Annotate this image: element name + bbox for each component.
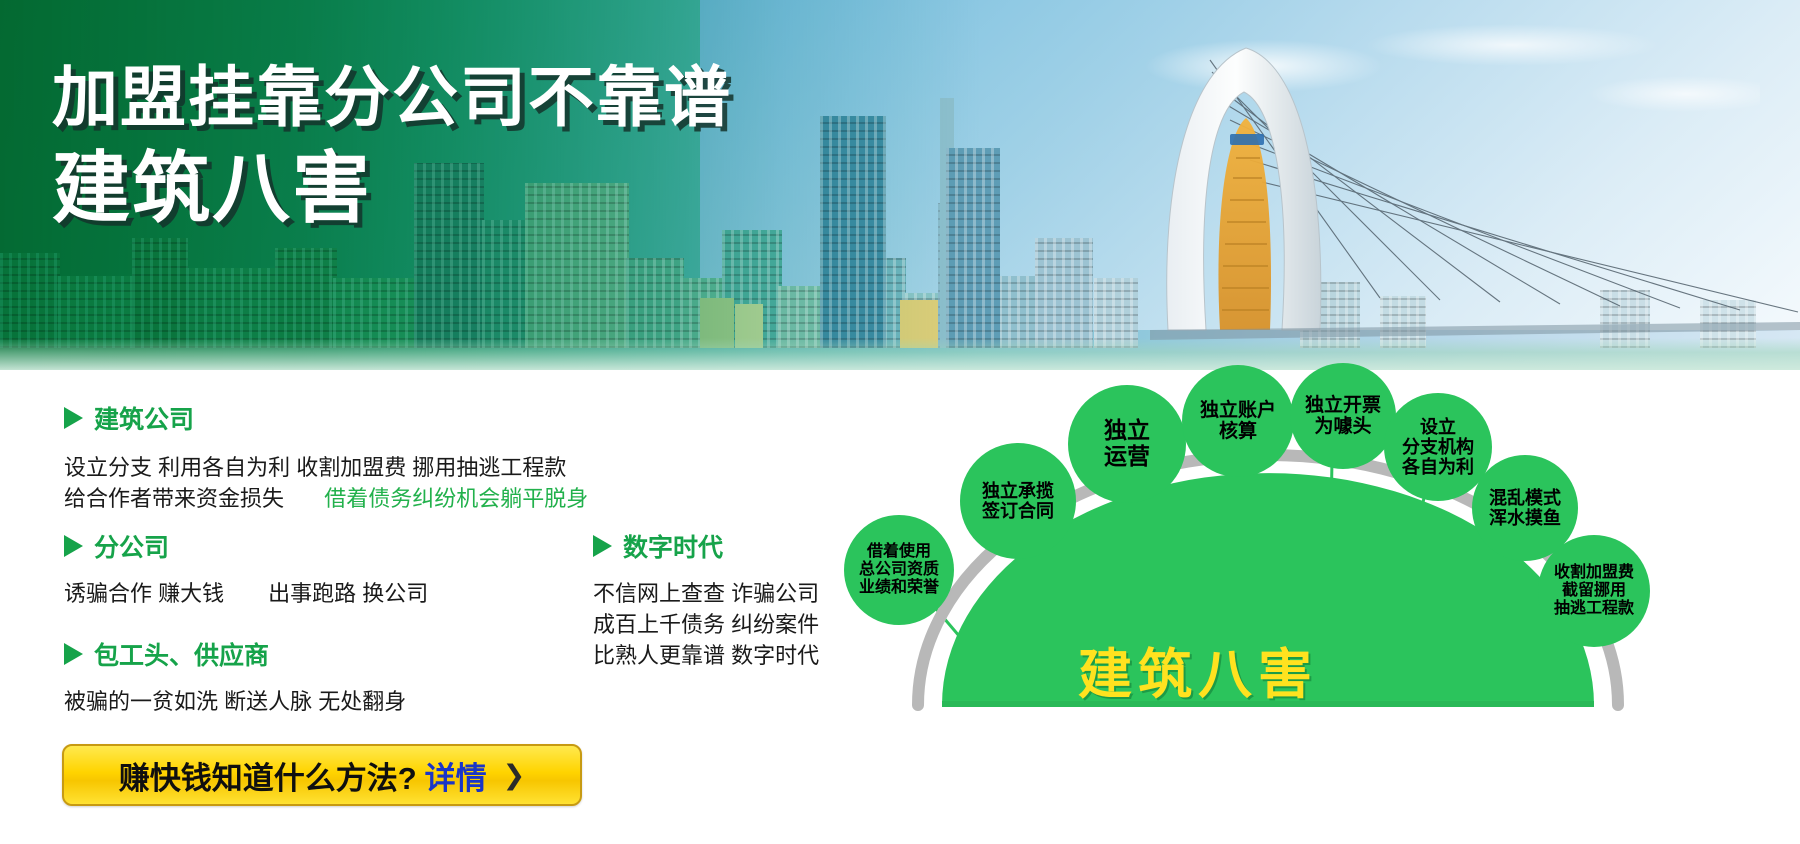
body-line: 成百上千债务 纠纷案件 xyxy=(593,609,819,640)
body-line: 被骗的一贫如洗 断送人脉 无处翻身 xyxy=(64,686,406,717)
eight-harms-diagram: 借着使用 总公司资质 业绩和荣誉 独立承揽 签订合同 独立 运营 独立账户 核算… xyxy=(900,375,1800,844)
body-line: 设立分支 利用各自为利 收割加盟费 挪用抽逃工程款 xyxy=(64,452,588,483)
section-construction-company: 建筑公司 设立分支 利用各自为利 收割加盟费 挪用抽逃工程款 给合作者带来资金损… xyxy=(64,400,588,514)
body-line: 比熟人更靠谱 数字时代 xyxy=(593,640,819,671)
bubble-3: 独立 运营 xyxy=(1068,385,1186,503)
triangle-bullet-icon xyxy=(64,407,83,429)
bubble-4: 独立账户 核算 xyxy=(1182,365,1294,477)
triangle-bullet-icon xyxy=(64,643,83,665)
body-text-black: 给合作者带来资金损失 xyxy=(64,486,284,511)
section-body-branch-company: 诱骗合作 赚大钱 出事跑路 换公司 xyxy=(64,578,428,609)
left-content-column: 建筑公司 设立分支 利用各自为利 收割加盟费 挪用抽逃工程款 给合作者带来资金损… xyxy=(0,388,900,844)
triangle-bullet-icon xyxy=(64,535,83,557)
section-heading-digital-era: 数字时代 xyxy=(593,528,819,564)
bubble-1: 借着使用 总公司资质 业绩和荣誉 xyxy=(844,515,954,625)
section-heading-construction-company: 建筑公司 xyxy=(64,400,588,436)
section-branch-company: 分公司 诱骗合作 赚大钱 出事跑路 换公司 xyxy=(64,528,428,609)
body-text-green: 借着债务纠纷机会躺平脱身 xyxy=(324,486,588,511)
hero-headline: 加盟挂靠分公司不靠谱 建筑八害 xyxy=(52,58,732,234)
cta-detail-link[interactable]: 详情 xyxy=(425,753,487,798)
headline-line-1: 加盟挂靠分公司不靠谱 xyxy=(52,58,732,136)
section-heading-label: 数字时代 xyxy=(623,528,723,564)
page-root: 加盟挂靠分公司不靠谱 建筑八害 建筑公司 设立分支 利用各自为利 收割加盟费 挪… xyxy=(0,0,1800,844)
hero-bottom-fade xyxy=(0,338,1800,370)
chevron-right-icon: ❯ xyxy=(503,760,526,791)
building xyxy=(1035,238,1093,348)
bubble-2: 独立承揽 签订合同 xyxy=(960,443,1076,559)
headline-line-2: 建筑八害 xyxy=(52,142,732,234)
body-line-mixed: 给合作者带来资金损失 借着债务纠纷机会躺平脱身 xyxy=(64,483,588,514)
section-body-construction-company: 设立分支 利用各自为利 收割加盟费 挪用抽逃工程款 给合作者带来资金损失 借着债… xyxy=(64,452,588,514)
bridge-illustration xyxy=(1150,30,1800,350)
bubble-8: 收割加盟费 截留挪用 抽逃工程款 xyxy=(1538,535,1650,647)
section-digital-era: 数字时代 不信网上查查 诈骗公司 成百上千债务 纠纷案件 比熟人更靠谱 数字时代 xyxy=(593,528,819,671)
dome-label: 建筑八害 xyxy=(1078,630,1318,709)
section-heading-label: 包工头、供应商 xyxy=(94,636,269,672)
section-contractor-supplier: 包工头、供应商 被骗的一贫如洗 断送人脉 无处翻身 xyxy=(64,636,406,717)
bubble-6: 设立 分支机构 各自为利 xyxy=(1384,393,1492,501)
section-body-contractor-supplier: 被骗的一贫如洗 断送人脉 无处翻身 xyxy=(64,686,406,717)
section-heading-contractor-supplier: 包工头、供应商 xyxy=(64,636,406,672)
hero-banner: 加盟挂靠分公司不靠谱 建筑八害 xyxy=(0,0,1800,370)
cta-button[interactable]: 赚快钱知道什么方法? 详情 ❯ xyxy=(62,744,582,806)
bubble-5: 独立开票 为噱头 xyxy=(1290,363,1396,469)
cta-question-label: 赚快钱知道什么方法? xyxy=(119,753,417,798)
section-heading-label: 建筑公司 xyxy=(94,400,194,436)
section-heading-branch-company: 分公司 xyxy=(64,528,428,564)
triangle-bullet-icon xyxy=(593,535,612,557)
section-body-digital-era: 不信网上查查 诈骗公司 成百上千债务 纠纷案件 比熟人更靠谱 数字时代 xyxy=(593,578,819,671)
body-line: 诱骗合作 赚大钱 出事跑路 换公司 xyxy=(64,578,428,609)
section-heading-label: 分公司 xyxy=(94,528,169,564)
body-line: 不信网上查查 诈骗公司 xyxy=(593,578,819,609)
